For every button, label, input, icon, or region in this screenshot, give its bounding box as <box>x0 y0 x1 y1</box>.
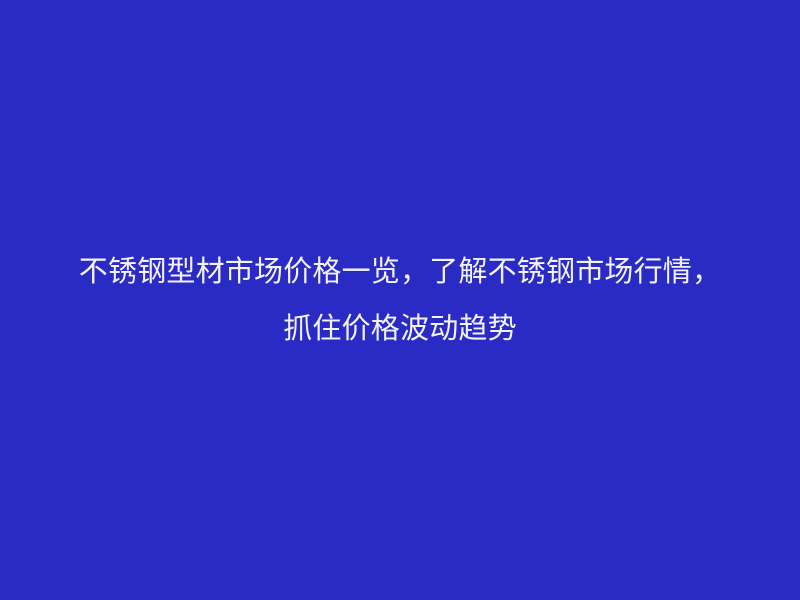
page-title-line-1: 不锈钢型材市场价格一览，了解不锈钢市场行情， <box>50 244 750 301</box>
page-title-line-2: 抓住价格波动趋势 <box>50 301 750 358</box>
banner-canvas: 不锈钢型材市场价格一览，了解不锈钢市场行情， 抓住价格波动趋势 <box>0 0 800 600</box>
page-title: 不锈钢型材市场价格一览，了解不锈钢市场行情， 抓住价格波动趋势 <box>50 244 750 358</box>
